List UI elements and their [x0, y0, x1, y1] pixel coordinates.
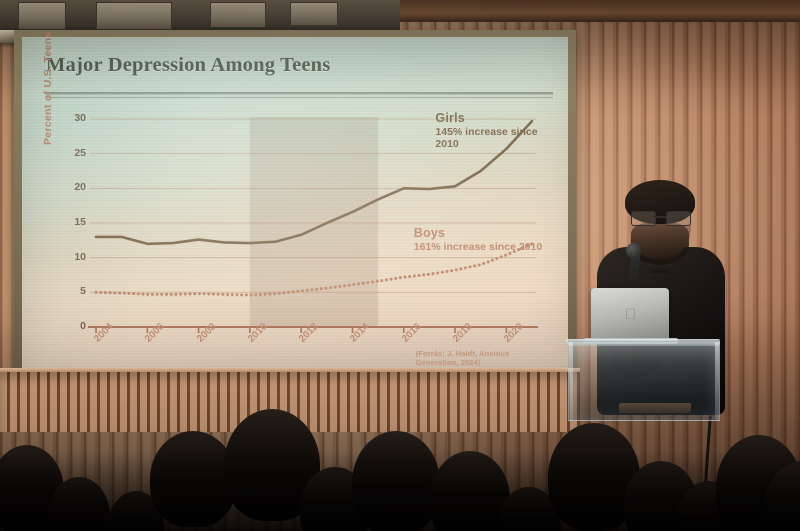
apple-logo-icon: : [623, 307, 638, 324]
glasses-bridge: [654, 216, 666, 218]
projection-screen: Major Depression Among Teens Percent of …: [22, 37, 568, 371]
lens-right: [666, 211, 691, 226]
ceiling-equipment-box: [290, 2, 338, 26]
eyeglasses-icon: [631, 211, 689, 224]
screen-vignette: [22, 37, 568, 371]
presentation-photo-scene: Major Depression Among Teens Percent of …: [0, 0, 800, 531]
laptop: : [591, 288, 669, 340]
audience-shadow: [0, 451, 800, 531]
lens-left: [631, 211, 656, 226]
ceiling-equipment-box: [210, 2, 266, 28]
ceiling-equipment-box: [96, 2, 172, 30]
microphone-head-icon: [626, 243, 641, 258]
